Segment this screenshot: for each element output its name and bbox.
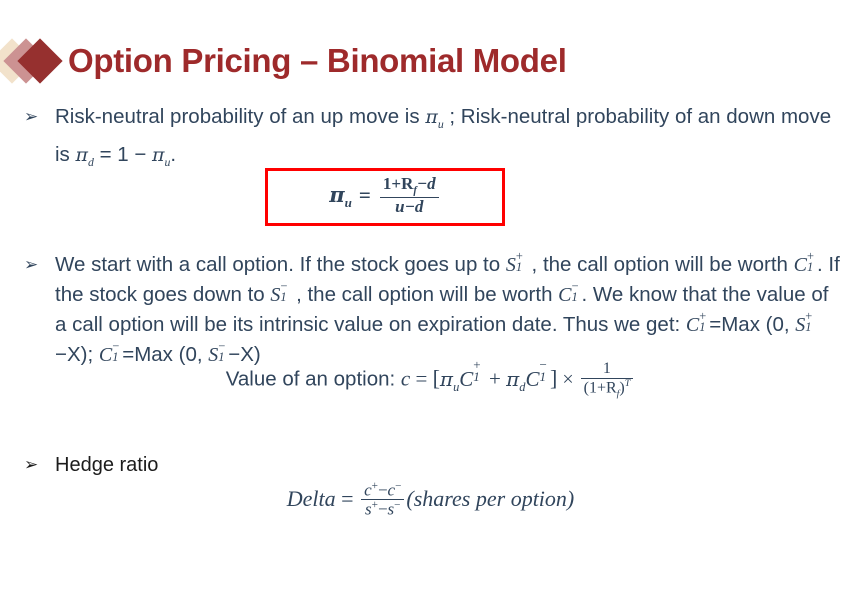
delta-lhs: Delta: [287, 486, 336, 511]
three-diamonds-logo: [0, 36, 66, 86]
math-S1-plus: S+11: [506, 254, 526, 276]
pi-symbol-d: πd: [76, 144, 94, 166]
seg-period: .: [170, 143, 176, 166]
delta-equation: Delta = c+−c−s+−s−(shares per option): [0, 482, 861, 520]
slide-root: { "slide": { "title": "Option Pricing – …: [0, 0, 861, 607]
math-S1-minus: S−11: [270, 284, 290, 306]
value-equals: =: [410, 367, 432, 391]
bullet-call-option-payoff: ➢ We start with a call option. If the st…: [0, 250, 861, 370]
boxed-numerator: 1+Rf−d: [380, 175, 439, 197]
value-frac-denominator: (1+Rf)T: [581, 378, 634, 400]
bullet-text-hedge-ratio: Hedge ratio: [55, 450, 843, 480]
bullet-arrow-icon-2: ➢: [24, 250, 55, 280]
delta-equation-content: Delta = c+−c−s+−s−(shares per option): [287, 486, 575, 511]
delta-fraction: c+−c−s+−s−: [361, 481, 404, 519]
pi-symbol-u2: πu: [152, 144, 170, 166]
delta-equals: =: [336, 486, 359, 511]
page-title: Option Pricing – Binomial Model: [68, 42, 567, 80]
boxed-formula-content: πu=1+Rf−du−d: [329, 177, 440, 218]
b2-seg6: =Max (0,: [709, 313, 795, 336]
value-of-option-label: Value of an option:: [226, 368, 401, 391]
bullet-arrow-icon-3: ➢: [24, 450, 55, 480]
delta-denominator: s+−s−: [361, 499, 404, 519]
bullet-arrow-icon: ➢: [24, 102, 55, 132]
boxed-formula-risk-neutral-prob: πu=1+Rf−du−d: [265, 168, 505, 226]
seg-text-3: = 1 −: [94, 143, 152, 166]
value-pi-u: πu: [440, 367, 459, 391]
pi-symbol-u: πu: [425, 106, 443, 128]
slide-header: Option Pricing – Binomial Model: [0, 30, 861, 92]
math-S1-plus-2: S+11: [795, 314, 815, 336]
value-plus-op: +: [484, 367, 506, 391]
value-open-bracket: [: [433, 366, 440, 391]
delta-suffix: (shares per option): [406, 486, 574, 511]
value-frac-numerator: 1: [581, 361, 634, 378]
b2-seg2: , the call option will be worth: [526, 253, 794, 276]
seg-text-1: Risk-neutral probability of an up move i…: [55, 105, 425, 128]
value-discount-fraction: 1(1+Rf)T: [581, 361, 634, 400]
value-C1-minus: C−11: [525, 367, 550, 391]
b2-seg4: , the call option will be worth: [290, 283, 558, 306]
bullet-text-call-option: We start with a call option. If the stoc…: [55, 250, 843, 370]
bullet-risk-neutral-probability: ➢ Risk-neutral probability of an up move…: [0, 102, 861, 178]
value-c-symbol: c: [401, 367, 410, 391]
value-C1-plus: C+11: [459, 367, 484, 391]
boxed-pi-u: πu: [329, 182, 352, 207]
value-pi-d: πd: [506, 367, 525, 391]
boxed-fraction: 1+Rf−du−d: [380, 175, 439, 216]
slide-body: ➢ Risk-neutral probability of an up move…: [0, 96, 861, 480]
delta-numerator: c+−c−: [361, 481, 404, 500]
bullet-text-risk-neutral: Risk-neutral probability of an up move i…: [55, 102, 843, 178]
math-C1-minus: C−11: [558, 284, 581, 306]
bullet-hedge-ratio: ➢ Hedge ratio: [0, 450, 861, 480]
boxed-equals: =: [352, 183, 378, 207]
math-C1-plus-2: C+11: [686, 314, 709, 336]
value-times-op: ×: [557, 369, 578, 391]
value-of-option-equation: Value of an option: c = [πuC+11 + πdC−11…: [0, 362, 861, 401]
math-C1-plus: C+11: [794, 254, 817, 276]
boxed-denominator: u−d: [380, 197, 439, 216]
